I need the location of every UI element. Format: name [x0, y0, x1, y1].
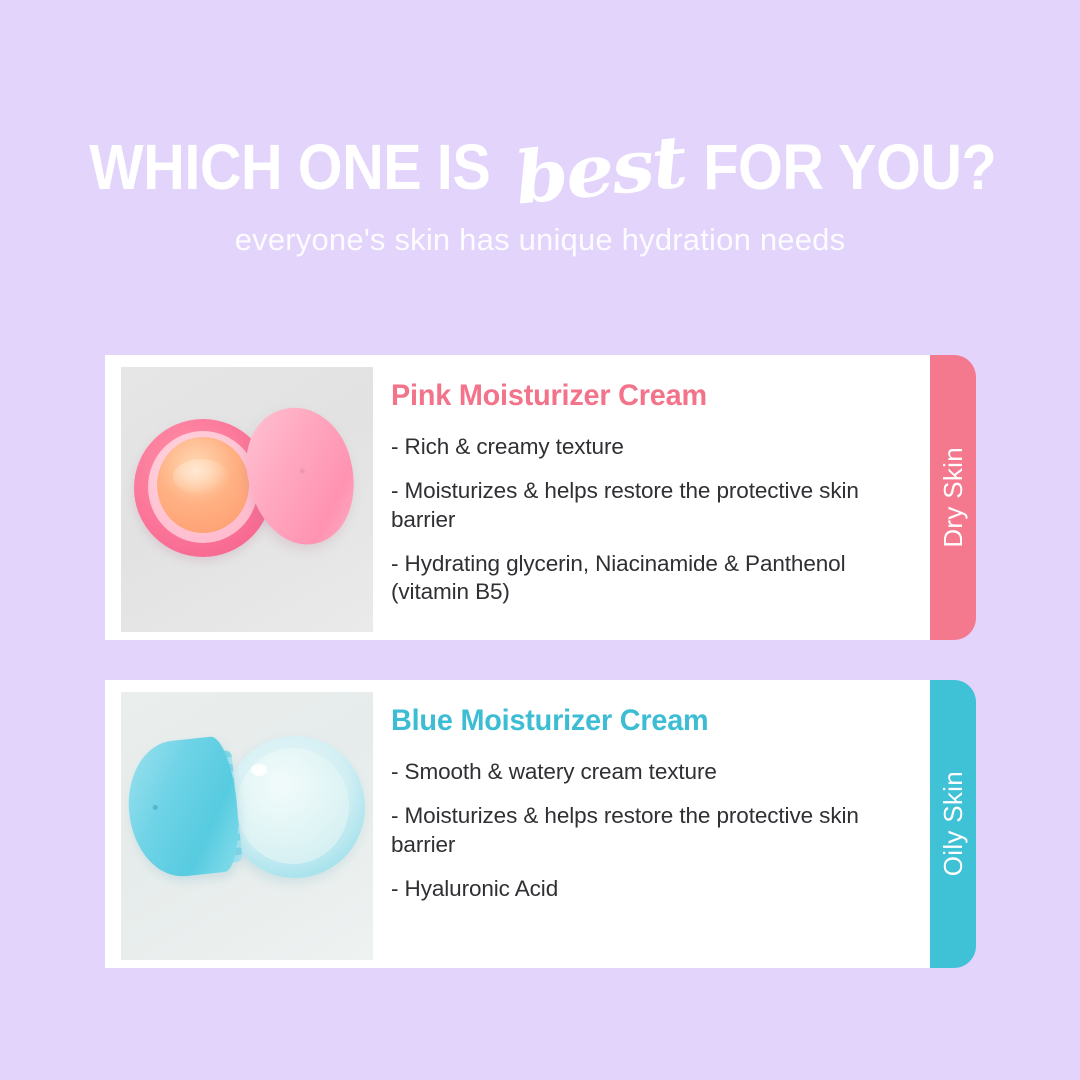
page-title-part2: FOR YOU?	[703, 135, 996, 199]
product-title-pink: Pink Moisturizer Cream	[391, 381, 882, 411]
skin-type-tab-dry-label: Dry Skin	[938, 447, 969, 548]
product-thumbnail-pink	[105, 355, 373, 640]
product-card-pink[interactable]: Pink Moisturizer Cream - Rich & creamy t…	[105, 355, 930, 640]
product-details-pink: Pink Moisturizer Cream - Rich & creamy t…	[373, 355, 930, 617]
product-feature-item: - Moisturizes & helps restore the protec…	[391, 477, 902, 534]
pink-jar-illustration	[121, 367, 373, 632]
blue-jar-illustration	[121, 692, 373, 960]
skin-type-tab-dry[interactable]: Dry Skin	[930, 355, 976, 640]
product-feature-item: - Hydrating glycerin, Niacinamide & Pant…	[391, 550, 902, 607]
blue-jar-gel-icon	[237, 748, 349, 864]
skin-type-tab-oily[interactable]: Oily Skin	[930, 680, 976, 968]
pink-jar-cream-icon	[157, 437, 249, 533]
page-title-part1: WHICH ONE IS	[90, 135, 491, 199]
product-thumbnail-blue	[105, 680, 373, 968]
skin-type-tab-oily-label: Oily Skin	[938, 771, 969, 876]
blue-jar-lid-icon	[122, 735, 244, 882]
page-title-script-word: best	[505, 125, 694, 216]
product-feature-item: - Smooth & watery cream texture	[391, 758, 902, 786]
product-feature-item: - Hyaluronic Acid	[391, 875, 902, 903]
page-title: WHICH ONE IS best FOR YOU?	[0, 128, 1080, 200]
product-card-blue[interactable]: Blue Moisturizer Cream - Smooth & watery…	[105, 680, 930, 968]
product-title-blue: Blue Moisturizer Cream	[391, 706, 882, 736]
product-feature-item: - Moisturizes & helps restore the protec…	[391, 802, 902, 859]
product-feature-item: - Rich & creamy texture	[391, 433, 902, 461]
page-subtitle: everyone's skin has unique hydration nee…	[0, 222, 1080, 258]
page-header: WHICH ONE IS best FOR YOU? everyone's sk…	[0, 0, 1080, 258]
product-details-blue: Blue Moisturizer Cream - Smooth & watery…	[373, 680, 930, 913]
